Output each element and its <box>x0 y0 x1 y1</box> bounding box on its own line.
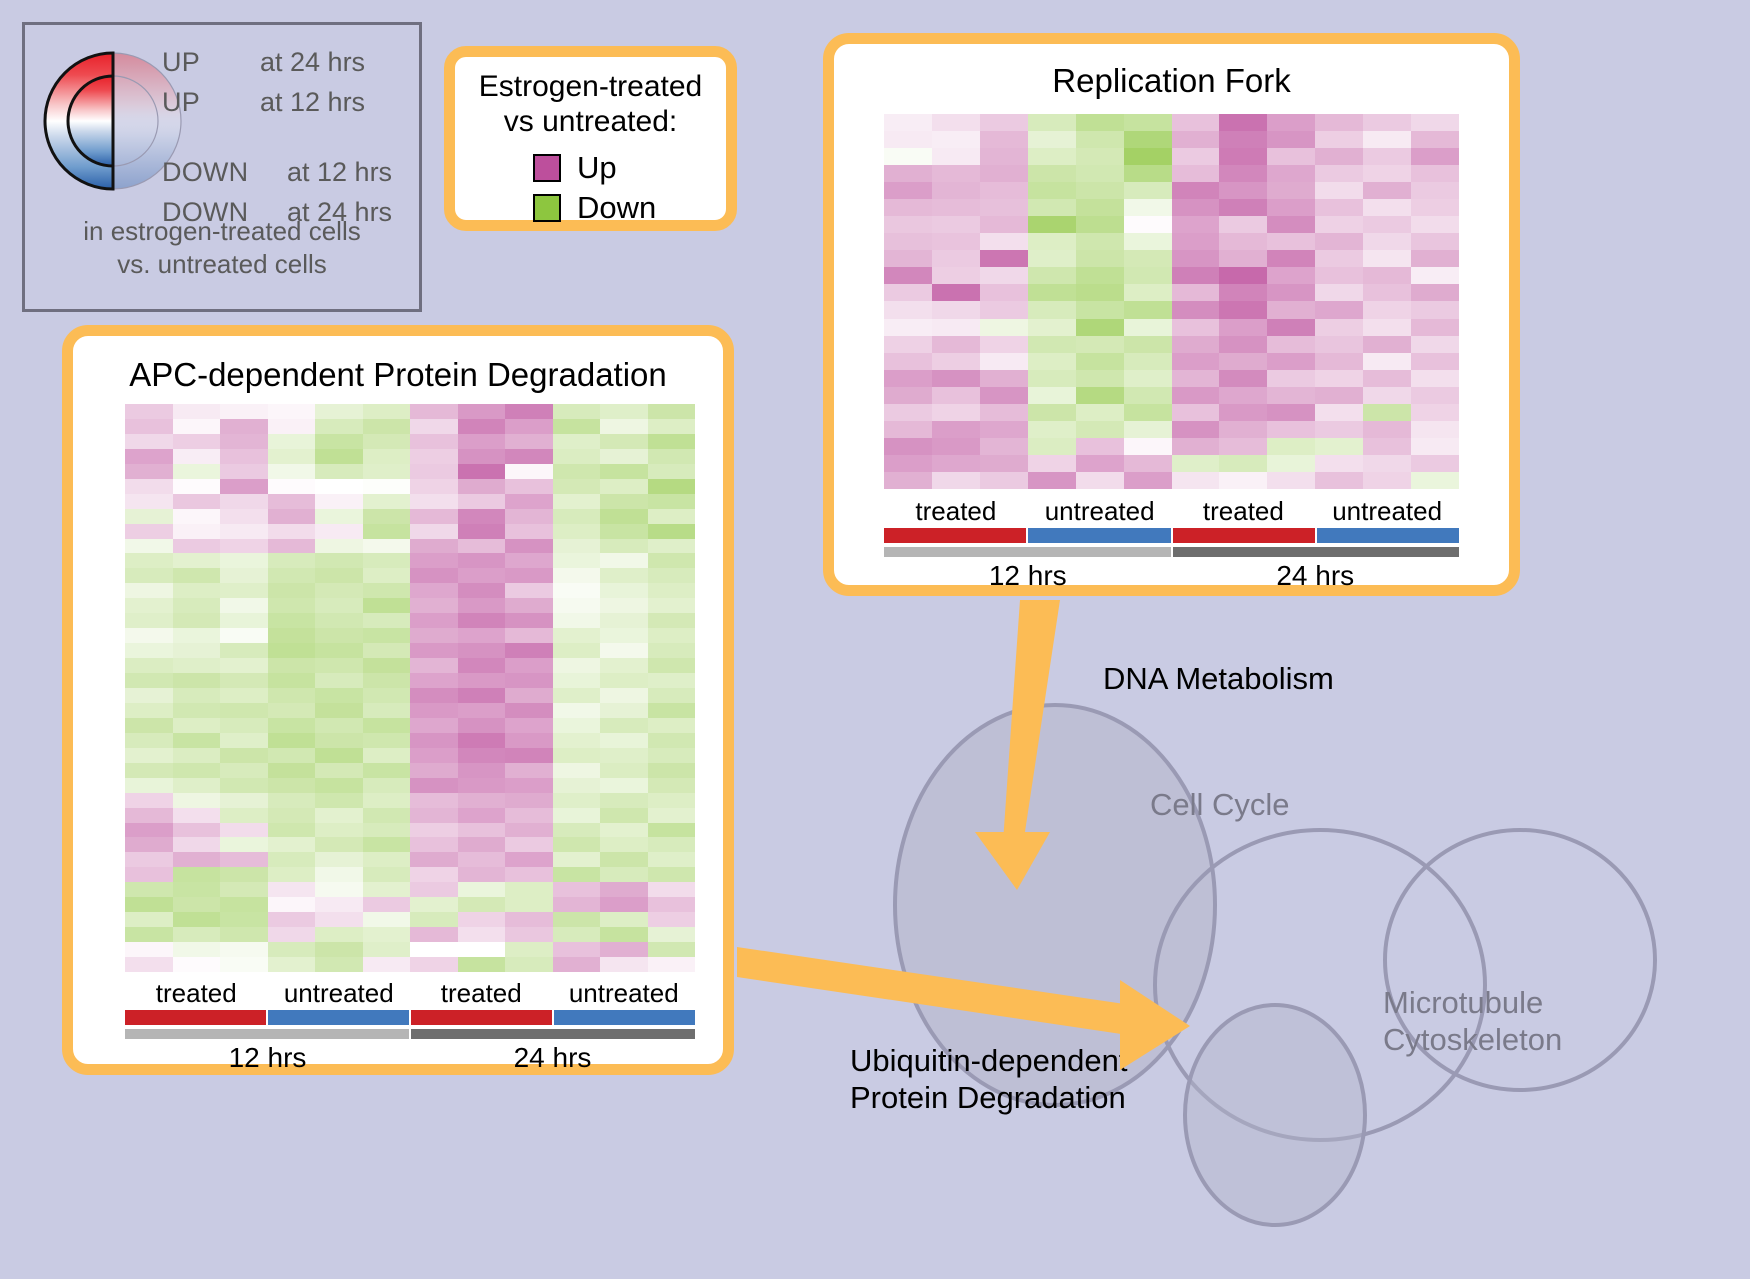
heatmap-cell <box>648 658 696 673</box>
up-label: Up <box>577 152 617 183</box>
heatmap-cell <box>173 628 221 643</box>
heatmap-cell <box>1219 114 1267 131</box>
heatmap-cell <box>363 404 411 419</box>
heatmap-cell <box>1124 148 1172 165</box>
heatmap-cell <box>1076 336 1124 353</box>
heatmap-cell <box>1315 301 1363 318</box>
heatmap-cell <box>1267 421 1315 438</box>
heatmap-cell <box>553 733 601 748</box>
heatmap-cell <box>1219 165 1267 182</box>
heatmap-cell <box>505 927 553 942</box>
heatmap-cell <box>1076 353 1124 370</box>
heatmap-cell <box>458 464 506 479</box>
heatmap-cell <box>125 524 173 539</box>
heatmap-cell <box>1172 114 1220 131</box>
heatmap-cell <box>458 553 506 568</box>
heatmap-cell <box>648 434 696 449</box>
heatmap-cell <box>600 823 648 838</box>
heatmap-cell <box>1315 336 1363 353</box>
heatmap-cell <box>125 748 173 763</box>
heatmap-cell <box>410 733 458 748</box>
heatmap-cell <box>553 449 601 464</box>
heatmap-cell <box>1219 404 1267 421</box>
heatmap-cell <box>932 250 980 267</box>
heatmap-cell <box>125 897 173 912</box>
heatmap-cell <box>410 568 458 583</box>
heatmap-cell <box>600 509 648 524</box>
heatmap-cell <box>268 703 316 718</box>
heatmap-cell <box>648 897 696 912</box>
heatmap-cell <box>458 912 506 927</box>
heatmap-cell <box>268 524 316 539</box>
heatmap-cell <box>363 852 411 867</box>
condition-bar-segment <box>1028 528 1172 543</box>
heatmap-cell <box>505 494 553 509</box>
heatmap-cell <box>173 494 221 509</box>
heatmap-cell <box>553 583 601 598</box>
heatmap-cell <box>1315 250 1363 267</box>
heatmap-cell <box>505 703 553 718</box>
heatmap-cell <box>458 852 506 867</box>
heatmap-cell <box>125 957 173 972</box>
heatmap-cell <box>1124 472 1172 489</box>
heatmap-cell <box>1411 114 1459 131</box>
heatmap-cell <box>600 793 648 808</box>
heatmap-cell <box>1315 370 1363 387</box>
heatmap-cell <box>410 912 458 927</box>
heatmap-cell <box>1076 404 1124 421</box>
heatmap-cell <box>1076 301 1124 318</box>
heatmap-cell <box>1172 267 1220 284</box>
heatmap-cell <box>220 494 268 509</box>
heatmap-cell <box>1411 216 1459 233</box>
heatmap-cell <box>173 643 221 658</box>
heatmap-cell <box>1172 421 1220 438</box>
heatmap-cell <box>173 598 221 613</box>
heatmap-cell <box>600 733 648 748</box>
heatmap-cell <box>363 524 411 539</box>
heatmap-cell <box>980 421 1028 438</box>
heatmap-cell <box>315 927 363 942</box>
heatmap-cell <box>600 613 648 628</box>
heatmap-cell <box>1028 421 1076 438</box>
heatmap-cell <box>1219 284 1267 301</box>
heatmap-cell <box>1411 131 1459 148</box>
legend-caption-line1: in estrogen-treated cells <box>25 215 419 248</box>
heatmap-cell <box>125 568 173 583</box>
heatmap-cell <box>648 524 696 539</box>
heatmap-cell <box>268 449 316 464</box>
heatmap-cell <box>220 852 268 867</box>
heatmap-cell <box>932 438 980 455</box>
apc-title: APC-dependent Protein Degradation <box>73 356 723 394</box>
microtubule-label-line1: Microtubule <box>1383 984 1562 1021</box>
cluster-label-cell-cycle: Cell Cycle <box>1150 786 1290 823</box>
heatmap-cell <box>1076 319 1124 336</box>
heatmap-cell <box>600 837 648 852</box>
heatmap-cell <box>220 808 268 823</box>
heatmap-cell <box>980 114 1028 131</box>
heatmap-cell <box>932 131 980 148</box>
heatmap-cell <box>268 867 316 882</box>
heatmap-cell <box>363 882 411 897</box>
heatmap-cell <box>1219 182 1267 199</box>
heatmap-cell <box>410 852 458 867</box>
heatmap-cell <box>648 464 696 479</box>
heatmap-cell <box>1028 370 1076 387</box>
heatmap-cell <box>600 539 648 554</box>
heatmap-cell <box>1315 267 1363 284</box>
heatmap-cell <box>268 793 316 808</box>
heatmap-cell <box>458 583 506 598</box>
heatmap-cell <box>173 464 221 479</box>
heatmap-cell <box>125 643 173 658</box>
heatmap-cell <box>173 658 221 673</box>
heatmap-cell <box>1363 472 1411 489</box>
heatmap-cell <box>1124 182 1172 199</box>
heatmap-cell <box>1028 336 1076 353</box>
heatmap-cell <box>1124 404 1172 421</box>
heatmap-cell <box>1363 353 1411 370</box>
heatmap-cell <box>505 434 553 449</box>
heatmap-cell <box>932 301 980 318</box>
heatmap-cell <box>932 455 980 472</box>
heatmap-cell <box>220 673 268 688</box>
heatmap-cell <box>173 897 221 912</box>
heatmap-cell <box>315 957 363 972</box>
heatmap-cell <box>1411 301 1459 318</box>
heatmap-cell <box>884 438 932 455</box>
heatmap-cell <box>1172 250 1220 267</box>
ubiquitin-label-line1: Ubiquitin-dependent <box>850 1042 1128 1079</box>
replication-fork-time-bar <box>884 547 1459 557</box>
heatmap-cell <box>1124 387 1172 404</box>
heatmap-cell <box>648 927 696 942</box>
heatmap-cell <box>315 613 363 628</box>
heatmap-cell <box>648 823 696 838</box>
up-down-title-line1: Estrogen-treated <box>455 70 726 105</box>
heatmap-cell <box>553 718 601 733</box>
heatmap-cell <box>1172 336 1220 353</box>
heatmap-cell <box>410 449 458 464</box>
heatmap-cell <box>505 823 553 838</box>
heatmap-cell <box>268 419 316 434</box>
heatmap-cell <box>1076 216 1124 233</box>
heatmap-cell <box>932 421 980 438</box>
heatmap-cell <box>458 658 506 673</box>
heatmap-cell <box>1315 353 1363 370</box>
timepoint-bar-segment <box>411 1029 695 1039</box>
heatmap-cell <box>1028 233 1076 250</box>
heatmap-cell <box>220 823 268 838</box>
heatmap-cell <box>980 233 1028 250</box>
microtubule-label-line2: Cytoskeleton <box>1383 1021 1562 1058</box>
heatmap-cell <box>884 182 932 199</box>
heatmap-cell <box>363 613 411 628</box>
heatmap-cell <box>458 434 506 449</box>
heatmap-cell <box>648 703 696 718</box>
heatmap-cell <box>220 837 268 852</box>
heatmap-cell <box>315 912 363 927</box>
timepoint-bar-segment <box>1173 547 1460 557</box>
heatmap-cell <box>932 472 980 489</box>
heatmap-cell <box>1076 131 1124 148</box>
heatmap-cell <box>1124 165 1172 182</box>
heatmap-cell <box>1172 199 1220 216</box>
heatmap-cell <box>268 598 316 613</box>
heatmap-cell <box>220 583 268 598</box>
heatmap-cell <box>410 763 458 778</box>
heatmap-cell <box>600 479 648 494</box>
heatmap-cell <box>315 449 363 464</box>
heatmap-cell <box>410 778 458 793</box>
heatmap-cell <box>884 284 932 301</box>
heatmap-cell <box>600 763 648 778</box>
heatmap-cell <box>505 509 553 524</box>
heatmap-cell <box>125 404 173 419</box>
heatmap-cell <box>505 673 553 688</box>
heatmap-cell <box>315 897 363 912</box>
heatmap-cell <box>1267 336 1315 353</box>
heatmap-cell <box>1363 336 1411 353</box>
heatmap-cell <box>505 598 553 613</box>
heatmap-cell <box>220 568 268 583</box>
heatmap-cell <box>125 419 173 434</box>
heatmap-cell <box>932 267 980 284</box>
heatmap-cell <box>600 867 648 882</box>
heatmap-cell <box>410 553 458 568</box>
heatmap-cell <box>1315 114 1363 131</box>
heatmap-cell <box>1363 165 1411 182</box>
heatmap-cell <box>1076 387 1124 404</box>
heatmap-cell <box>505 867 553 882</box>
heatmap-cell <box>1267 455 1315 472</box>
heatmap-cell <box>600 553 648 568</box>
heatmap-cell <box>458 524 506 539</box>
heatmap-cell <box>553 852 601 867</box>
heatmap-cell <box>980 250 1028 267</box>
heatmap-cell <box>363 688 411 703</box>
heatmap-cell <box>932 319 980 336</box>
heatmap-cell <box>1267 148 1315 165</box>
heatmap-cell <box>125 808 173 823</box>
heatmap-cell <box>648 867 696 882</box>
heatmap-cell <box>173 763 221 778</box>
heatmap-cell <box>600 897 648 912</box>
heatmap-cell <box>268 628 316 643</box>
heatmap-cell <box>1076 165 1124 182</box>
heatmap-cell <box>268 613 316 628</box>
condition-bar-segment <box>884 528 1028 543</box>
heatmap-cell <box>1363 233 1411 250</box>
heatmap-cell <box>125 553 173 568</box>
heatmap-cell <box>363 942 411 957</box>
heatmap-cell <box>315 509 363 524</box>
heatmap-cell <box>220 897 268 912</box>
timepoint-label: 12 hrs <box>884 560 1172 592</box>
heatmap-cell <box>363 927 411 942</box>
heatmap-cell <box>125 449 173 464</box>
heatmap-cell <box>1124 233 1172 250</box>
cluster-label-ubiquitin-degradation: Ubiquitin-dependent Protein Degradation <box>850 1042 1128 1116</box>
heatmap-cell <box>268 942 316 957</box>
heatmap-cell <box>315 793 363 808</box>
heatmap-cell <box>1315 199 1363 216</box>
heatmap-cell <box>173 912 221 927</box>
condition-bar-segment <box>554 1010 695 1025</box>
heatmap-cell <box>410 748 458 763</box>
heatmap-cell <box>125 867 173 882</box>
heatmap-cell <box>1076 284 1124 301</box>
heatmap-cell <box>410 897 458 912</box>
legend-state-up-24: UP <box>162 47 200 78</box>
heatmap-cell <box>884 455 932 472</box>
heatmap-cell <box>1028 455 1076 472</box>
heatmap-cell <box>980 165 1028 182</box>
heatmap-cell <box>363 897 411 912</box>
heatmap-cell <box>220 404 268 419</box>
heatmap-cell <box>268 778 316 793</box>
heatmap-cell <box>553 494 601 509</box>
heatmap-cell <box>410 927 458 942</box>
heatmap-cell <box>1267 233 1315 250</box>
heatmap-cell <box>410 583 458 598</box>
heatmap-cell <box>1028 148 1076 165</box>
heatmap-cell <box>1315 131 1363 148</box>
heatmap-cell <box>600 583 648 598</box>
legend-state-up-12: UP <box>162 87 200 118</box>
heatmap-cell <box>600 808 648 823</box>
timepoint-bar-segment <box>884 547 1173 557</box>
heatmap-cell <box>1172 455 1220 472</box>
heatmap-cell <box>458 449 506 464</box>
heatmap-cell <box>1315 438 1363 455</box>
heatmap-cell <box>1267 404 1315 421</box>
heatmap-cell <box>1267 216 1315 233</box>
heatmap-cell <box>410 688 458 703</box>
heatmap-cell <box>648 598 696 613</box>
heatmap-cell <box>1363 455 1411 472</box>
heatmap-cell <box>1363 148 1411 165</box>
heatmap-cell <box>884 114 932 131</box>
heatmap-cell <box>932 284 980 301</box>
heatmap-cell <box>315 778 363 793</box>
heatmap-cell <box>1363 199 1411 216</box>
heatmap-cell <box>1411 438 1459 455</box>
legend-state-down-12: DOWN <box>162 157 248 188</box>
heatmap-cell <box>173 748 221 763</box>
heatmap-cell <box>1219 216 1267 233</box>
heatmap-cell <box>648 553 696 568</box>
heatmap-cell <box>173 882 221 897</box>
heatmap-cell <box>505 733 553 748</box>
heatmap-cell <box>505 583 553 598</box>
heatmap-cell <box>932 165 980 182</box>
heatmap-cell <box>980 387 1028 404</box>
heatmap-cell <box>125 718 173 733</box>
heatmap-cell <box>1124 438 1172 455</box>
heatmap-cell <box>173 942 221 957</box>
heatmap-cell <box>410 703 458 718</box>
heatmap-cell <box>1315 284 1363 301</box>
heatmap-cell <box>648 583 696 598</box>
heatmap-cell <box>600 434 648 449</box>
heatmap-cell <box>1411 387 1459 404</box>
heatmap-cell <box>173 419 221 434</box>
ubiquitin-label-line2: Protein Degradation <box>850 1079 1128 1116</box>
cluster-label-microtubule-cytoskeleton: Microtubule Cytoskeleton <box>1383 984 1562 1058</box>
heatmap-cell <box>315 628 363 643</box>
heatmap-cell <box>1076 199 1124 216</box>
heatmap-cell <box>410 793 458 808</box>
heatmap-cell <box>1411 336 1459 353</box>
heatmap-cell <box>220 882 268 897</box>
heatmap-cell <box>1124 250 1172 267</box>
heatmap-cell <box>505 778 553 793</box>
down-label: Down <box>577 192 656 223</box>
heatmap-cell <box>1363 114 1411 131</box>
heatmap-cell <box>1172 387 1220 404</box>
condition-label: treated <box>884 496 1028 527</box>
heatmap-cell <box>173 852 221 867</box>
heatmap-cell <box>125 912 173 927</box>
heatmap-cell <box>505 957 553 972</box>
heatmap-cell <box>884 148 932 165</box>
heatmap-cell <box>268 882 316 897</box>
heatmap-cell <box>458 897 506 912</box>
heatmap-cell <box>553 927 601 942</box>
heatmap-cell <box>220 479 268 494</box>
heatmap-cell <box>505 524 553 539</box>
heatmap-cell <box>458 763 506 778</box>
heatmap-cell <box>268 852 316 867</box>
up-down-legend-card: Estrogen-treated vs untreated: Up Down <box>444 46 737 231</box>
heatmap-cell <box>648 837 696 852</box>
heatmap-cell <box>600 912 648 927</box>
heatmap-cell <box>363 494 411 509</box>
heatmap-cell <box>1315 165 1363 182</box>
heatmap-cell <box>1172 284 1220 301</box>
heatmap-cell <box>1411 404 1459 421</box>
heatmap-cell <box>315 539 363 554</box>
heatmap-cell <box>1172 216 1220 233</box>
heatmap-cell <box>505 763 553 778</box>
heatmap-cell <box>1219 250 1267 267</box>
heatmap-cell <box>1267 353 1315 370</box>
heatmap-cell <box>884 336 932 353</box>
heatmap-cell <box>1124 319 1172 336</box>
heatmap-cell <box>458 688 506 703</box>
heatmap-cell <box>410 509 458 524</box>
condition-label: untreated <box>553 978 696 1009</box>
heatmap-cell <box>1028 182 1076 199</box>
heatmap-cell <box>884 267 932 284</box>
heatmap-cell <box>553 539 601 554</box>
heatmap-cell <box>268 927 316 942</box>
heatmap-cell <box>458 957 506 972</box>
heatmap-cell <box>1411 319 1459 336</box>
heatmap-cell <box>458 823 506 838</box>
heatmap-cell <box>648 628 696 643</box>
heatmap-cell <box>268 718 316 733</box>
heatmap-cell <box>1363 301 1411 318</box>
heatmap-cell <box>1028 387 1076 404</box>
heatmap-cell <box>268 539 316 554</box>
heatmap-cell <box>932 199 980 216</box>
heatmap-cell <box>173 688 221 703</box>
heatmap-cell <box>980 353 1028 370</box>
heatmap-cell <box>315 808 363 823</box>
